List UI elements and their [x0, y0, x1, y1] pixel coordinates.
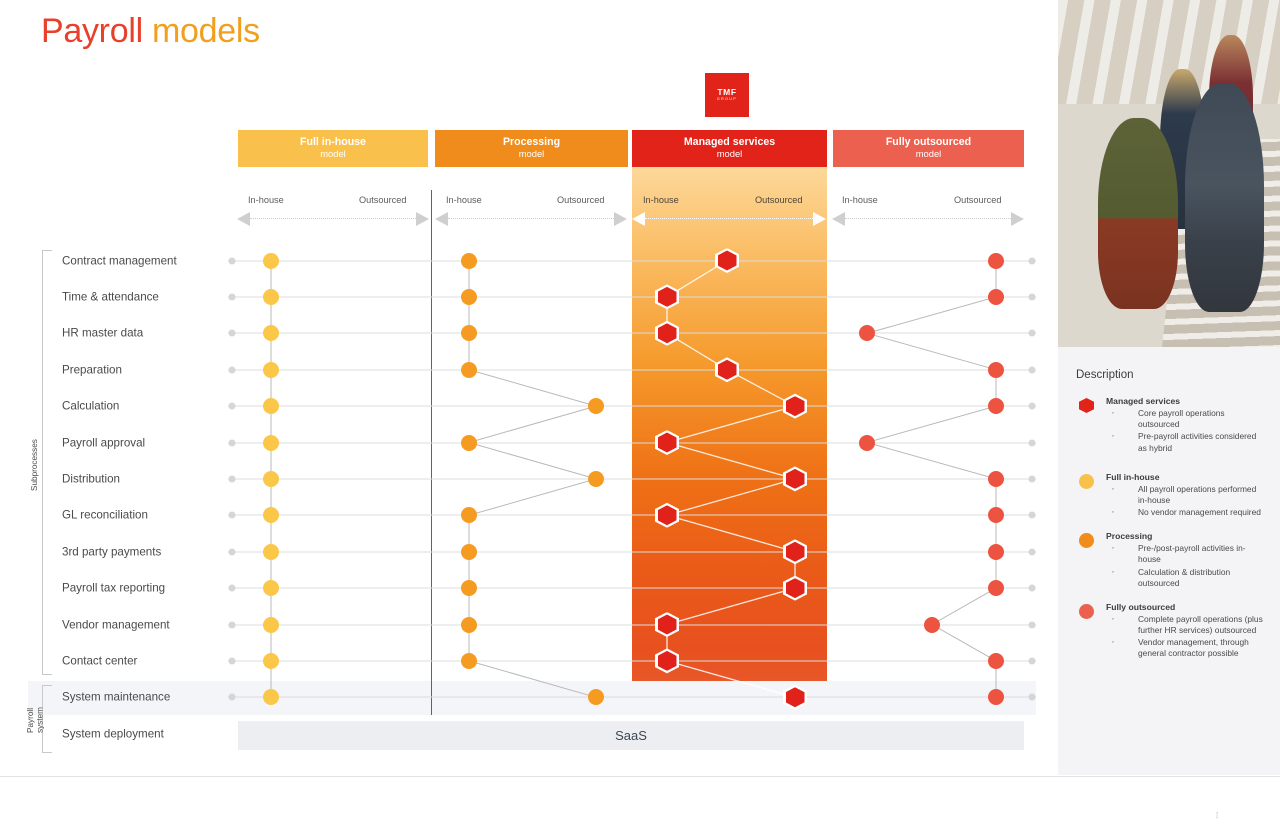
row-gridline — [228, 296, 1036, 297]
description-panel: Description Managed services Core payrol… — [1058, 347, 1280, 775]
row-endpoint-dot — [1029, 657, 1036, 664]
data-node-processing[interactable] — [461, 544, 477, 560]
data-node-processing[interactable] — [588, 689, 604, 705]
row-gridline — [228, 515, 1036, 516]
data-node-fully-outsourced[interactable] — [988, 253, 1004, 269]
row-endpoint-dot — [229, 694, 236, 701]
row-endpoint-dot — [1029, 403, 1036, 410]
legend-bullets: All payroll operations performed in-hous… — [1106, 484, 1266, 519]
data-node-full-in-house[interactable] — [263, 435, 279, 451]
person-foreground-right — [1185, 83, 1265, 312]
row-endpoint-dot — [1029, 548, 1036, 555]
row-endpoint-dot — [229, 657, 236, 664]
row-gridline — [228, 588, 1036, 589]
axis-label-outsourced-col1: Outsourced — [359, 195, 407, 205]
row-gridline — [228, 478, 1036, 479]
row-endpoint-dot — [1029, 330, 1036, 337]
saas-bar: SaaS — [238, 721, 1024, 750]
column-subtitle: model — [717, 149, 743, 160]
row-endpoint-dot — [1029, 293, 1036, 300]
row-endpoint-dot — [1029, 512, 1036, 519]
column-header-full-in-house[interactable]: Full in-house model — [238, 130, 428, 167]
data-node-fully-outsourced[interactable] — [988, 507, 1004, 523]
row-endpoint-dot — [229, 257, 236, 264]
row-endpoint-dot — [1029, 257, 1036, 264]
data-node-processing[interactable] — [461, 617, 477, 633]
row-gridline — [228, 551, 1036, 552]
legend-label: Processing — [1106, 531, 1266, 541]
row-endpoint-dot — [229, 293, 236, 300]
row-endpoint-dot — [229, 403, 236, 410]
row-gridline — [228, 442, 1036, 443]
axis-label-outsourced-col2: Outsourced — [557, 195, 605, 205]
data-node-fully-outsourced[interactable] — [988, 289, 1004, 305]
data-node-processing[interactable] — [461, 289, 477, 305]
hexagon-node-fill — [786, 396, 805, 416]
arrow-left-icon — [435, 212, 448, 226]
row-label: Distribution — [62, 472, 120, 485]
hexagon-node-fill — [786, 542, 805, 562]
row-endpoint-dot — [229, 475, 236, 482]
vertical-divider — [431, 190, 432, 715]
row-label: Payroll tax reporting — [62, 582, 165, 595]
hexagon-node-fill — [658, 615, 677, 635]
data-node-processing[interactable] — [461, 362, 477, 378]
data-node-processing[interactable] — [461, 325, 477, 341]
row-endpoint-dot — [229, 330, 236, 337]
cursor-marker: ⁞ — [1216, 812, 1222, 821]
data-node-full-in-house[interactable] — [263, 653, 279, 669]
axis-arrow-col1 — [237, 212, 429, 226]
footer-divider — [0, 776, 1280, 777]
row-label: 3rd party payments — [62, 545, 161, 558]
legend-bullets: Pre-/post-payroll activities in-house Ca… — [1106, 543, 1266, 589]
hexagon-node-fill — [718, 360, 737, 380]
legend-item-processing: Processing Pre-/post-payroll activities … — [1076, 531, 1266, 589]
axis-arrow-col2 — [435, 212, 627, 226]
hexagon-node-fill — [658, 323, 677, 343]
hexagon-node-fill — [786, 469, 805, 489]
row-label: Contract management — [62, 254, 177, 267]
row-endpoint-dot — [1029, 694, 1036, 701]
data-node-fully-outsourced[interactable] — [859, 325, 875, 341]
row-gridline — [228, 406, 1036, 407]
arrow-left-icon — [832, 212, 845, 226]
row-endpoint-dot — [1029, 439, 1036, 446]
data-node-processing[interactable] — [588, 398, 604, 414]
data-node-processing[interactable] — [588, 471, 604, 487]
arrow-track — [448, 218, 614, 219]
column-header-fully-outsourced[interactable]: Fully outsourced model — [833, 130, 1024, 167]
legend-bullet: Calculation & distribution outsourced — [1106, 567, 1266, 589]
person-foreground-left — [1098, 118, 1178, 309]
data-node-full-in-house[interactable] — [263, 580, 279, 596]
data-node-fully-outsourced[interactable] — [988, 471, 1004, 487]
row-endpoint-dot — [1029, 621, 1036, 628]
arrow-left-icon — [237, 212, 250, 226]
row-label: System deployment — [62, 727, 164, 740]
description-title: Description — [1076, 369, 1266, 381]
hexagon-node-fill — [658, 433, 677, 453]
axis-label-outsourced-col4: Outsourced — [954, 195, 1002, 205]
legend-bullets: Complete payroll operations (plus furthe… — [1106, 614, 1266, 660]
axis-arrow-col3 — [632, 212, 826, 226]
row-label: HR master data — [62, 327, 143, 340]
bracket-subprocesses — [42, 250, 52, 675]
row-gridline — [228, 333, 1036, 334]
row-label: System maintenance — [62, 691, 170, 704]
row-endpoint-dot — [229, 548, 236, 555]
page-title-part1: Payroll — [41, 12, 143, 50]
data-node-full-in-house[interactable] — [263, 325, 279, 341]
circle-marker-icon — [1079, 533, 1094, 548]
legend-bullet: Complete payroll operations (plus furthe… — [1106, 614, 1266, 636]
legend-bullet: Pre-/post-payroll activities in-house — [1106, 543, 1266, 565]
row-label: Vendor management — [62, 618, 170, 631]
legend-bullet: Vendor management, through general contr… — [1106, 637, 1266, 659]
data-node-processing[interactable] — [461, 507, 477, 523]
column-subtitle: model — [320, 149, 346, 160]
logo-main-text: TMF — [717, 88, 736, 97]
row-label: Preparation — [62, 363, 122, 376]
row-endpoint-dot — [229, 439, 236, 446]
row-label: Time & attendance — [62, 290, 159, 303]
row-endpoint-dot — [229, 512, 236, 519]
team-photo — [1058, 0, 1280, 347]
data-node-fully-outsourced[interactable] — [988, 362, 1004, 378]
data-node-fully-outsourced[interactable] — [988, 653, 1004, 669]
data-node-full-in-house[interactable] — [263, 398, 279, 414]
axis-label-in-house-col2: In-house — [446, 195, 482, 205]
column-header-managed-services[interactable]: Managed services model — [632, 130, 827, 167]
data-node-full-in-house[interactable] — [263, 544, 279, 560]
row-label: Payroll approval — [62, 436, 145, 449]
data-node-processing[interactable] — [461, 435, 477, 451]
axis-label-in-house-col4: In-house — [842, 195, 878, 205]
arrow-right-icon — [1011, 212, 1024, 226]
data-node-fully-outsourced[interactable] — [924, 617, 940, 633]
row-label: GL reconciliation — [62, 509, 148, 522]
data-node-full-in-house[interactable] — [263, 362, 279, 378]
data-node-fully-outsourced[interactable] — [988, 580, 1004, 596]
data-node-full-in-house[interactable] — [263, 471, 279, 487]
data-node-fully-outsourced[interactable] — [988, 544, 1004, 560]
arrow-track — [645, 218, 813, 219]
legend-label: Full in-house — [1106, 472, 1266, 482]
data-node-processing[interactable] — [461, 580, 477, 596]
side-label-subprocesses: Subprocesses — [30, 415, 39, 515]
row-gridline — [228, 697, 1036, 698]
axis-label-outsourced-col3: Outsourced — [755, 195, 803, 205]
legend-bullet: All payroll operations performed in-hous… — [1106, 484, 1266, 506]
row-label: Calculation — [62, 400, 119, 413]
axis-label-in-house-col1: In-house — [248, 195, 284, 205]
data-node-fully-outsourced[interactable] — [988, 398, 1004, 414]
data-node-processing[interactable] — [461, 253, 477, 269]
data-node-full-in-house[interactable] — [263, 253, 279, 269]
legend-bullets: Core payroll operations outsourced Pre-p… — [1106, 408, 1266, 454]
data-node-processing[interactable] — [461, 653, 477, 669]
column-subtitle: model — [519, 149, 545, 160]
data-node-full-in-house[interactable] — [263, 689, 279, 705]
tmf-group-logo: TMF GROUP — [705, 73, 749, 117]
circle-marker-icon — [1079, 604, 1094, 619]
axis-label-in-house-col3: In-house — [643, 195, 679, 205]
data-node-full-in-house[interactable] — [263, 507, 279, 523]
hexagon-node-fill — [658, 287, 677, 307]
row-endpoint-dot — [1029, 366, 1036, 373]
legend-label: Managed services — [1106, 396, 1266, 406]
payroll-system-band — [28, 681, 1036, 715]
data-node-fully-outsourced[interactable] — [988, 689, 1004, 705]
page-title-part2: models — [152, 12, 260, 50]
legend-item-fully-outsourced: Fully outsourced Complete payroll operat… — [1076, 602, 1266, 660]
row-label: Contact center — [62, 654, 137, 667]
legend-bullet: Core payroll operations outsourced — [1106, 408, 1266, 430]
row-endpoint-dot — [229, 366, 236, 373]
legend-bullet: No vendor management required — [1106, 507, 1266, 518]
arrow-track — [845, 218, 1011, 219]
logo-sub-text: GROUP — [717, 98, 737, 102]
hexagon-marker-icon — [1079, 398, 1094, 413]
arrow-left-icon — [632, 212, 645, 226]
data-node-fully-outsourced[interactable] — [859, 435, 875, 451]
legend-item-managed-services: Managed services Core payroll operations… — [1076, 396, 1266, 454]
hexagon-node-fill — [658, 505, 677, 525]
hexagon-node-fill — [786, 578, 805, 598]
row-gridline — [228, 660, 1036, 661]
row-gridline — [228, 260, 1036, 261]
row-gridline — [228, 624, 1036, 625]
row-endpoint-dot — [1029, 585, 1036, 592]
arrow-track — [250, 218, 416, 219]
arrow-right-icon — [416, 212, 429, 226]
slide-root: Payroll models Description Managed servi… — [0, 0, 1280, 839]
circle-marker-icon — [1079, 474, 1094, 489]
arrow-right-icon — [614, 212, 627, 226]
row-endpoint-dot — [1029, 475, 1036, 482]
arrow-right-icon — [813, 212, 826, 226]
saas-label: SaaS — [615, 728, 647, 743]
data-node-full-in-house[interactable] — [263, 617, 279, 633]
hexagon-node-fill — [658, 651, 677, 671]
hexagon-node-fill — [786, 687, 805, 707]
row-gridline — [228, 369, 1036, 370]
legend-label: Fully outsourced — [1106, 602, 1266, 612]
column-subtitle: model — [916, 149, 942, 160]
row-endpoint-dot — [229, 621, 236, 628]
column-header-processing[interactable]: Processing model — [435, 130, 628, 167]
side-label-payroll-system: Payroll system — [26, 690, 45, 750]
axis-arrow-col4 — [832, 212, 1024, 226]
legend-item-full-in-house: Full in-house All payroll operations per… — [1076, 472, 1266, 519]
row-endpoint-dot — [229, 585, 236, 592]
data-node-full-in-house[interactable] — [263, 289, 279, 305]
legend-bullet: Pre-payroll activities considered as hyb… — [1106, 431, 1266, 453]
page-title: Payroll models — [41, 12, 260, 51]
hexagon-node-fill — [718, 251, 737, 271]
